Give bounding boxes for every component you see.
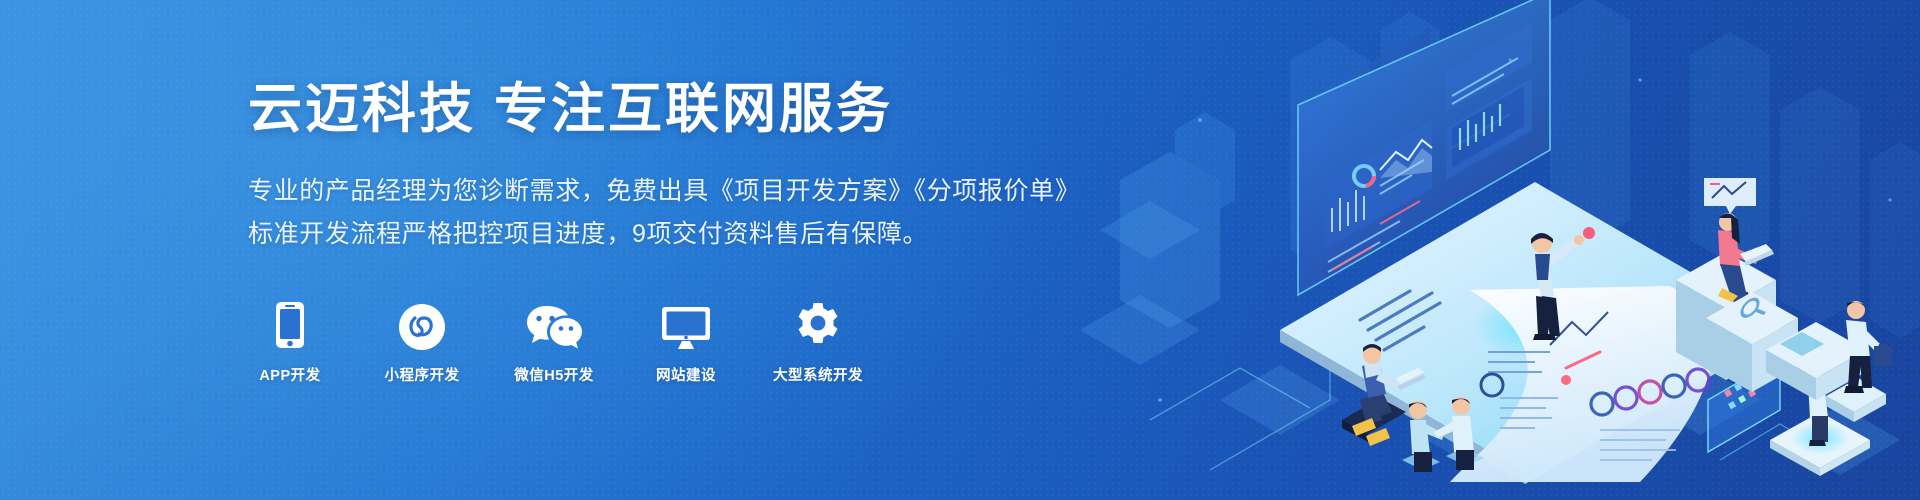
wechat-icon [526, 298, 582, 350]
mini-program-icon [399, 298, 445, 350]
service-label: 大型系统开发 [773, 364, 863, 385]
service-label: 网站建设 [656, 364, 716, 385]
hero-banner: 云迈科技 专注互联网服务 专业的产品经理为您诊断需求，免费出具《项目开发方案》《… [0, 0, 1920, 500]
service-item-mini-program[interactable]: 小程序开发 [380, 298, 464, 385]
isometric-illustration [1080, 0, 1920, 500]
mobile-phone-icon [274, 298, 306, 350]
gear-icon [794, 298, 842, 350]
monitor-icon [661, 298, 711, 350]
page-title: 云迈科技 专注互联网服务 [248, 78, 1148, 140]
service-item-wechat-h5[interactable]: 微信H5开发 [512, 298, 596, 385]
service-label: 小程序开发 [385, 364, 460, 385]
service-item-large-system[interactable]: 大型系统开发 [776, 298, 860, 385]
banner-subtitle: 专业的产品经理为您诊断需求，免费出具《项目开发方案》《分项报价单》 标准开发流程… [248, 170, 1148, 256]
service-item-app[interactable]: APP开发 [248, 298, 332, 385]
service-label: 微信H5开发 [514, 364, 594, 385]
service-item-website[interactable]: 网站建设 [644, 298, 728, 385]
service-list: APP开发 小程序开发 [248, 298, 1148, 385]
subtitle-line-1: 专业的产品经理为您诊断需求，免费出具《项目开发方案》《分项报价单》 [248, 170, 1148, 213]
banner-content: 云迈科技 专注互联网服务 专业的产品经理为您诊断需求，免费出具《项目开发方案》《… [248, 78, 1148, 385]
subtitle-line-2: 标准开发流程严格把控项目进度，9项交付资料售后有保障。 [248, 213, 1148, 256]
service-label: APP开发 [259, 364, 320, 385]
